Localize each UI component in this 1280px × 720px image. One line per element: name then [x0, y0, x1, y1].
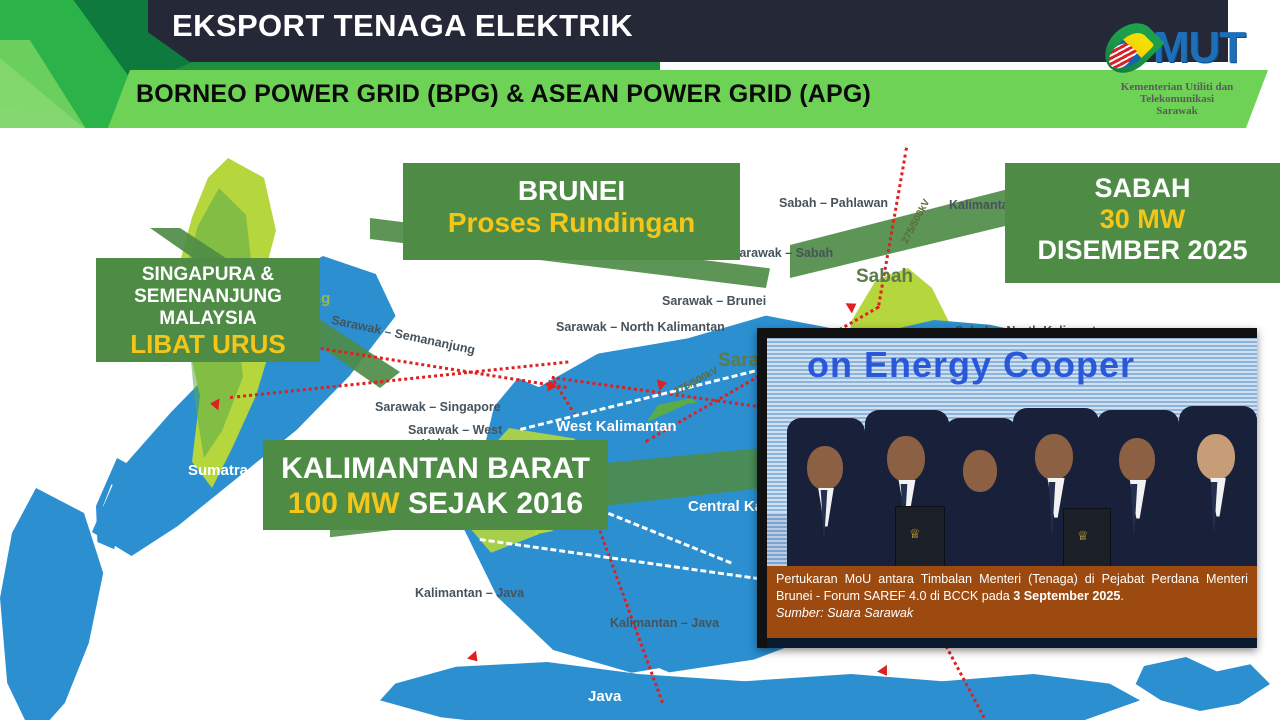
callout-kalbar-detail: 100 MW SEJAK 2016: [263, 487, 608, 522]
photo-folder-crest-2: ♕: [1077, 528, 1089, 544]
flame-droplet-icon: [1109, 20, 1151, 76]
map-label-sabah: Sabah: [856, 266, 913, 288]
callout-kalbar-capacity: 100 MW: [288, 487, 400, 520]
map-label-sarawak-sabah: Sarawak – Sabah: [731, 246, 833, 260]
photo-backdrop-text: on Energy Cooper: [807, 344, 1135, 386]
route-arrow-java-west: [467, 651, 482, 666]
photo-person-3: [945, 418, 1017, 568]
callout-sabah-capacity: 30 MW: [1005, 204, 1280, 235]
callout-singapura-line3: MALAYSIA: [96, 308, 320, 330]
callout-brunei-status: Proses Rundingan: [403, 207, 740, 239]
java-east-islands: [1130, 648, 1270, 720]
callout-singapura-line1: SINGAPURA &: [96, 264, 320, 286]
photo-caption-period: .: [1120, 589, 1124, 603]
logo-subtitle-line3: Sarawak: [1092, 105, 1262, 117]
logo-subtitle: Kementerian Utiliti dan Telekomunikasi S…: [1092, 81, 1262, 117]
photo-person-2-head: [887, 436, 925, 482]
callout-singapura-line2: SEMENANJUNG: [96, 286, 320, 308]
logo-subtitle-line2: Telekomunikasi: [1092, 93, 1262, 105]
map-label-sarawak-brunei: Sarawak – Brunei: [662, 294, 766, 308]
slide-canvas: Sabah – Pahlawan Kalimantan – Mindanao S…: [0, 0, 1280, 720]
photo-caption-main: Pertukaran MoU antara Timbalan Menteri (…: [776, 572, 1248, 603]
callout-kalbar-title: KALIMANTAN BARAT: [263, 452, 608, 487]
photo-person-6-head: [1197, 434, 1235, 480]
callout-brunei-title: BRUNEI: [403, 175, 740, 207]
page-title: EKSPORT TENAGA ELEKTRIK: [172, 8, 633, 44]
callout-brunei[interactable]: BRUNEI Proses Rundingan: [403, 163, 740, 260]
photo-caption: Pertukaran MoU antara Timbalan Menteri (…: [767, 566, 1257, 638]
ministry-logo: MUT Kementerian Utiliti dan Telekomunika…: [1092, 16, 1262, 124]
callout-sabah-date: DISEMBER 2025: [1005, 235, 1280, 266]
callout-kalbar-since: SEJAK 2016: [408, 487, 583, 520]
map-label-sarawak-north-kalimantan: Sarawak – North Kalimantan: [556, 320, 725, 334]
map-label-java: Java: [588, 688, 621, 705]
callout-sabah[interactable]: SABAH 30 MW DISEMBER 2025: [1005, 163, 1280, 283]
logo-mark-row: MUT: [1092, 16, 1262, 80]
map-label-west-kalimantan: West Kalimantan: [556, 418, 677, 435]
photo-person-5-head: [1119, 438, 1155, 482]
photo-person-1-head: [807, 446, 843, 490]
callout-sabah-title: SABAH: [1005, 173, 1280, 204]
callout-singapura-semenanjung[interactable]: SINGAPURA & SEMENANJUNG MALAYSIA LIBAT U…: [96, 258, 320, 362]
map-label-sabah-pahlawan: Sabah – Pahlawan: [779, 196, 888, 210]
map-label-central-kalimantan: Central Kal: [688, 498, 767, 515]
map-label-kalimantan-java-west: Kalimantan – Java: [415, 586, 524, 600]
photo-caption-date: 3 September 2025: [1013, 589, 1120, 603]
route-arrow-singapore: [209, 398, 219, 411]
callout-singapura-status: LIBAT URUS: [96, 330, 320, 360]
logo-subtitle-line1: Kementerian Utiliti dan: [1092, 81, 1262, 93]
map-label-sarawak-west: Sarawak – West: [408, 423, 502, 437]
photo-person-3-head: [963, 450, 997, 492]
map-label-sumatra: Sumatra: [188, 462, 248, 479]
map-label-kalimantan-java-east: Kalimantan – Java: [610, 616, 719, 630]
photo-folder-crest-1: ♕: [909, 526, 921, 542]
callout-kalimantan-barat[interactable]: KALIMANTAN BARAT 100 MW SEJAK 2016: [263, 440, 608, 530]
photo-person-4-head: [1035, 434, 1073, 480]
map-label-sarawak-singapore: Sarawak – Singapore: [375, 400, 501, 414]
photo-caption-source: Sumber: Suara Sarawak: [776, 605, 1248, 622]
route-arrow-semananjung: [547, 379, 558, 392]
logo-wordmark: MUT: [1153, 20, 1245, 76]
event-photo[interactable]: on Energy Cooper ♕ ♕: [757, 328, 1257, 648]
page-subtitle: BORNEO POWER GRID (BPG) & ASEAN POWER GR…: [136, 80, 871, 109]
